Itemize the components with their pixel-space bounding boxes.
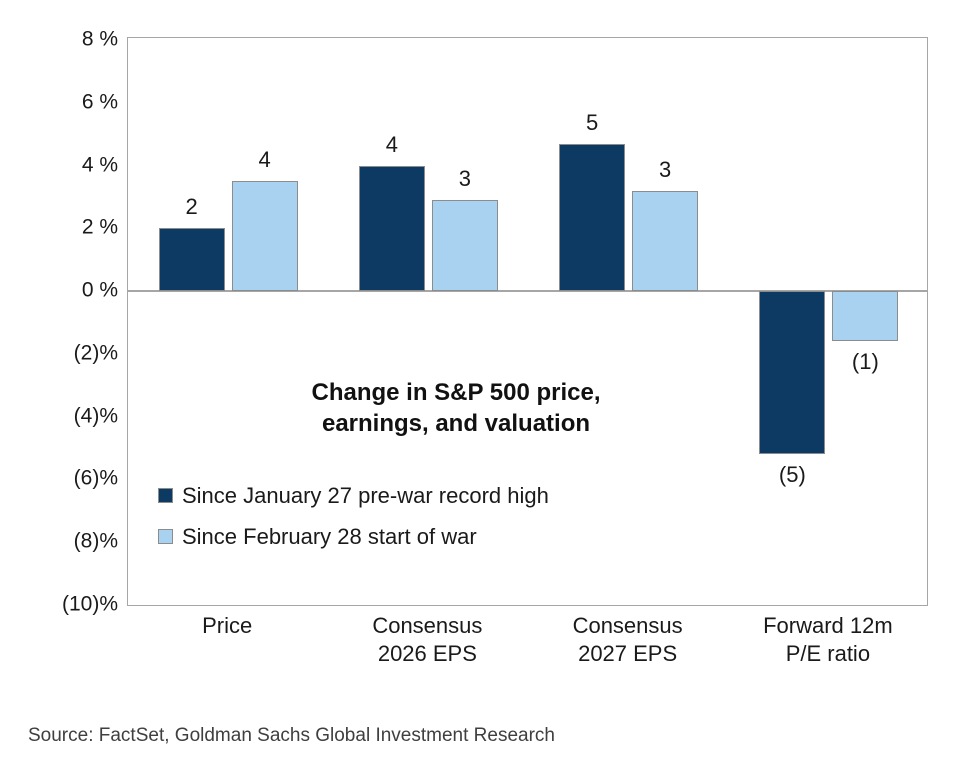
chart-legend: Since January 27 pre-war record high Sin… [158,475,778,557]
plot-area: 244353(5)(1) Change in S&P 500 price, ea… [127,37,928,606]
bar-value-label: (1) [812,351,918,373]
y-axis-tick-label: 4 % [8,154,118,175]
y-axis-tick-label: 8 % [8,29,118,50]
bar [432,200,498,291]
bar-value-label: 3 [412,168,518,190]
bar [832,291,898,341]
x-axis-tick-label: Consensus 2027 EPS [528,612,728,668]
legend-item-series-1: Since January 27 pre-war record high [158,475,778,516]
legend-item-series-2: Since February 28 start of war [158,516,778,557]
y-axis-tick-label: (4)% [8,405,118,426]
x-axis: PriceConsensus 2026 EPSConsensus 2027 EP… [127,612,928,692]
legend-swatch-dark [158,488,173,503]
bar [159,228,225,291]
bar [632,191,698,291]
bar-value-label: 3 [612,159,718,181]
x-axis-tick-label: Consensus 2026 EPS [327,612,527,668]
legend-label-series-1: Since January 27 pre-war record high [182,485,549,507]
chart-title: Change in S&P 500 price, earnings, and v… [176,378,736,439]
y-axis-tick-label: (2)% [8,342,118,363]
y-axis-tick-label: 0 % [8,280,118,301]
y-axis-tick-label: (8)% [8,531,118,552]
x-axis-tick-label: Price [127,612,327,640]
bar-value-label: 5 [539,112,645,134]
bar-value-label: 4 [339,134,445,156]
bar-value-label: 2 [139,196,245,218]
y-axis-tick-label: (10)% [8,594,118,615]
y-axis: 8 %6 %4 %2 %0 %(2)%(4)%(6)%(8)%(10)% [0,0,118,773]
y-axis-tick-label: 2 % [8,217,118,238]
y-axis-tick-label: (6)% [8,468,118,489]
x-axis-tick-label: Forward 12m P/E ratio [728,612,928,668]
legend-label-series-2: Since February 28 start of war [182,526,477,548]
bar-value-label: 4 [212,149,318,171]
source-note: Source: FactSet, Goldman Sachs Global In… [28,726,555,745]
legend-swatch-light [158,529,173,544]
chart-figure: 8 %6 %4 %2 %0 %(2)%(4)%(6)%(8)%(10)% 244… [0,0,960,773]
y-axis-tick-label: 6 % [8,91,118,112]
